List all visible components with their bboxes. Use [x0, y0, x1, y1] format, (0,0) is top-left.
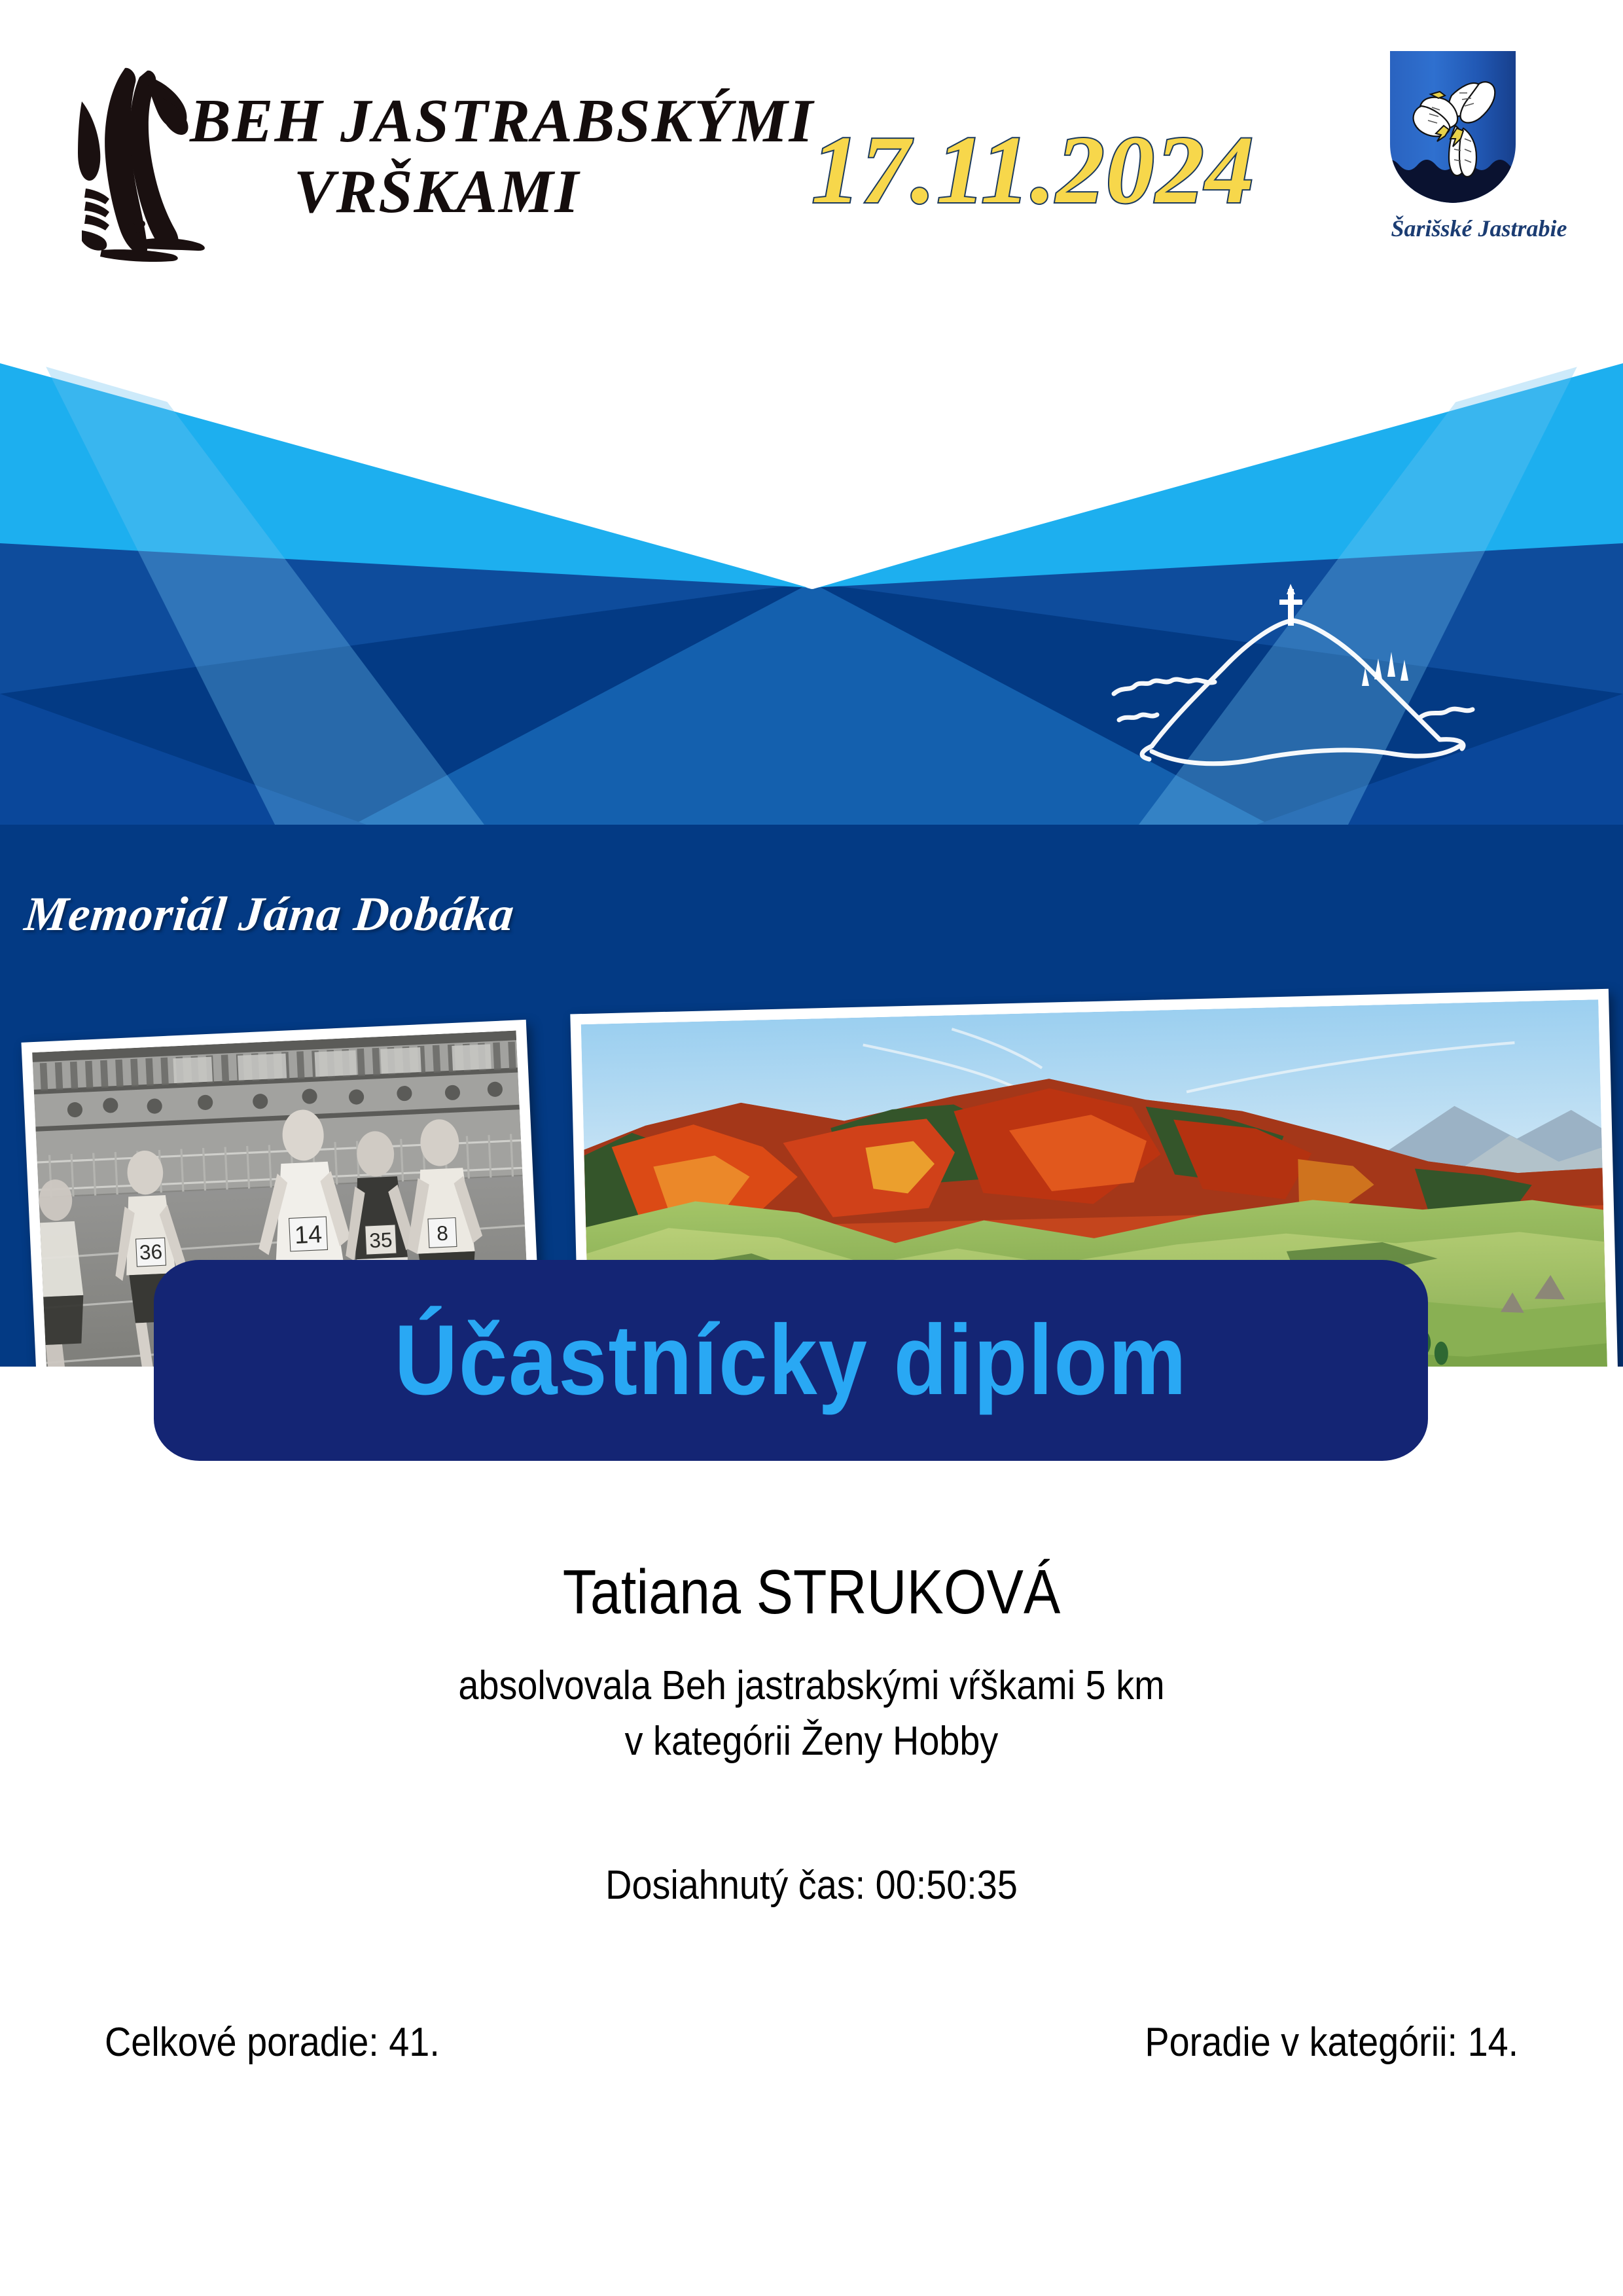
logo-line-1: BEH JASTRABSKÝMI — [170, 90, 811, 152]
participant-name: Tatiana STRUKOVÁ — [98, 1556, 1525, 1628]
logo-line-2: VRŠKAMI — [170, 161, 811, 223]
memorial-title: Memoriál Jána Dobáka — [22, 887, 518, 942]
diploma-page: BEH JASTRABSKÝMI VRŠKAMI 17.11.2024 — [0, 0, 1623, 2296]
achievement-line-2: v kategórii Ženy Hobby — [81, 1718, 1542, 1765]
logo-wordmark: BEH JASTRABSKÝMI VRŠKAMI — [170, 90, 811, 223]
overall-rank: Celkové poradie: 41. — [105, 2019, 440, 2066]
category-rank: Poradie v kategórii: 14. — [1145, 2019, 1518, 2066]
event-logo: BEH JASTRABSKÝMI VRŠKAMI — [62, 72, 808, 262]
coat-of-arms-icon — [1381, 46, 1525, 206]
diploma-title: Účastnícky diplom — [395, 1303, 1188, 1418]
geometric-banner-graphic — [0, 327, 1623, 825]
crest-caption: Šarišské Jastrabie — [1381, 215, 1577, 242]
finish-time: Dosiahnutý čas: 00:50:35 — [81, 1862, 1542, 1909]
header: BEH JASTRABSKÝMI VRŠKAMI 17.11.2024 — [0, 0, 1623, 327]
diploma-title-banner: Účastnícky diplom — [154, 1260, 1428, 1461]
blue-panel: Memoriál Jána Dobáka — [0, 327, 1623, 1367]
achievement-line-1: absolvovala Beh jastrabskými vŕškami 5 k… — [81, 1662, 1542, 1709]
municipality-crest: Šarišské Jastrabie — [1381, 46, 1577, 242]
event-date: 17.11.2024 — [811, 115, 1255, 226]
